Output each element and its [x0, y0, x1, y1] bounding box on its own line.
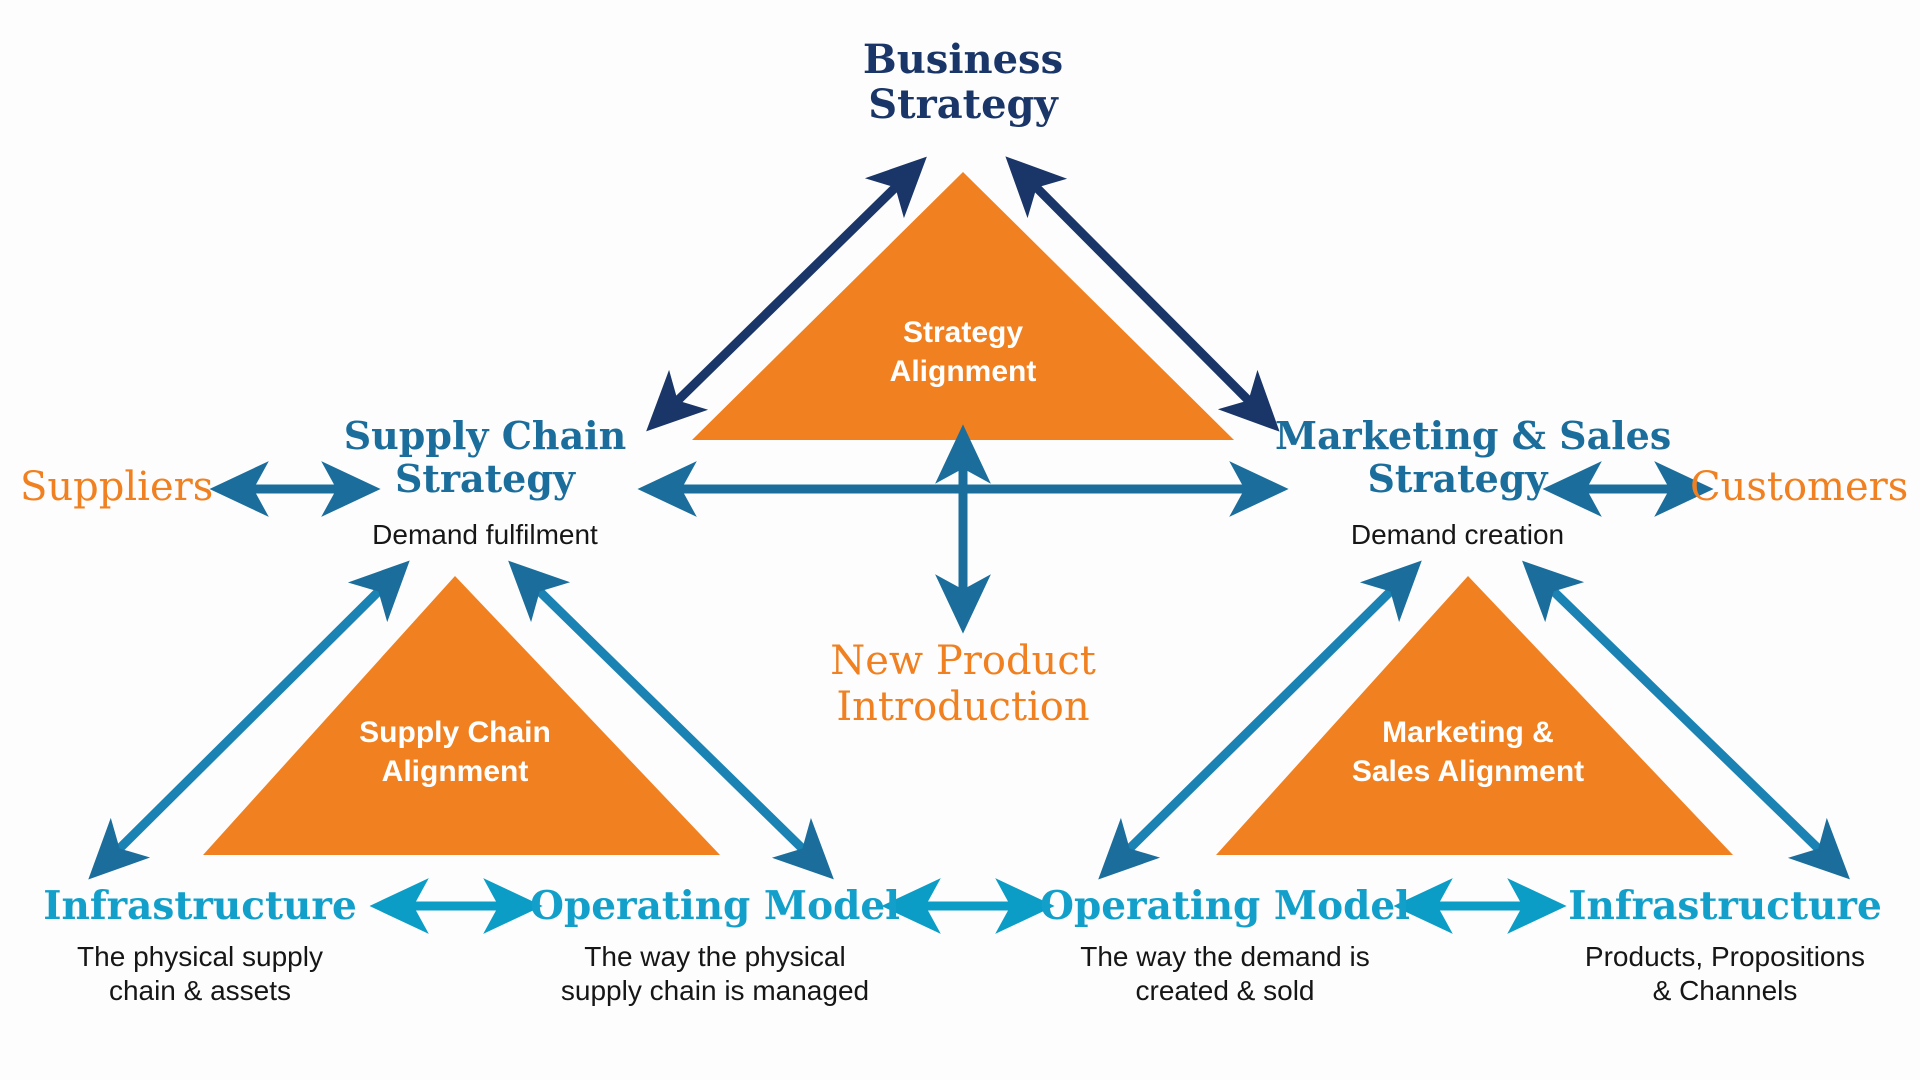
marketing-sales-strategy-line2: Strategy — [1275, 458, 1640, 501]
strategy-alignment-label: Strategy Alignment — [813, 313, 1113, 391]
supply-chain-strategy-title: Supply Chain Strategy — [310, 415, 660, 500]
supply-chain-alignment-line1: Supply Chain — [305, 713, 605, 752]
bottom-infra-supply-sub-line1: The physical supply — [20, 940, 380, 974]
bottom-infra-demand-sub-line2: & Channels — [1540, 974, 1910, 1008]
customers-text: Customers — [1690, 464, 1908, 510]
npi-line2: Introduction — [763, 684, 1163, 730]
bottom-operating-model-demand-text: Operating Model — [1040, 883, 1410, 929]
new-product-introduction-label: New Product Introduction — [763, 638, 1163, 730]
suppliers-text: Suppliers — [20, 464, 213, 510]
supply-chain-strategy-line1: Supply Chain — [310, 415, 660, 458]
bottom-om-demand-sub-line1: The way the demand is — [1035, 940, 1415, 974]
marketing-sales-strategy-line1: Marketing & Sales — [1275, 415, 1640, 458]
bottom-operating-model-supply-subtitle: The way the physical supply chain is man… — [520, 940, 910, 1007]
business-strategy-title: Business Strategy — [763, 38, 1163, 128]
marketing-sales-strategy-title: Marketing & Sales Strategy — [1275, 415, 1640, 500]
npi-line1: New Product — [763, 638, 1163, 684]
bottom-operating-model-demand-title: Operating Model — [1040, 885, 1410, 929]
supply-chain-strategy-line2: Strategy — [310, 458, 660, 501]
bottom-operating-model-supply-text: Operating Model — [530, 883, 900, 929]
strategy-alignment-line1: Strategy — [813, 313, 1113, 352]
customers-label: Customers — [1690, 464, 1920, 510]
bottom-infrastructure-supply-subtitle: The physical supply chain & assets — [20, 940, 380, 1007]
business-strategy-line1: Business — [763, 38, 1163, 83]
bottom-infrastructure-demand-subtitle: Products, Propositions & Channels — [1540, 940, 1910, 1007]
marketing-sales-strategy-sub-text: Demand creation — [1351, 519, 1564, 550]
bottom-infra-demand-sub-line1: Products, Propositions — [1540, 940, 1910, 974]
bottom-infrastructure-demand-text: Infrastructure — [1568, 883, 1882, 929]
bottom-infra-supply-sub-line2: chain & assets — [20, 974, 380, 1008]
supply-chain-strategy-subtitle: Demand fulfilment — [310, 518, 660, 552]
bottom-operating-model-supply-title: Operating Model — [530, 885, 900, 929]
strategy-alignment-line2: Alignment — [813, 352, 1113, 391]
bottom-om-demand-sub-line2: created & sold — [1035, 974, 1415, 1008]
supply-chain-alignment-label: Supply Chain Alignment — [305, 713, 605, 791]
supply-chain-strategy-sub-text: Demand fulfilment — [372, 519, 598, 550]
suppliers-label: Suppliers — [0, 464, 225, 510]
bottom-om-supply-sub-line2: supply chain is managed — [520, 974, 910, 1008]
marketing-sales-alignment-line2: Sales Alignment — [1318, 752, 1618, 791]
bottom-om-supply-sub-line1: The way the physical — [520, 940, 910, 974]
marketing-sales-strategy-subtitle: Demand creation — [1275, 518, 1640, 552]
bottom-infrastructure-supply-text: Infrastructure — [43, 883, 357, 929]
marketing-sales-alignment-line1: Marketing & — [1318, 713, 1618, 752]
bottom-operating-model-demand-subtitle: The way the demand is created & sold — [1035, 940, 1415, 1007]
bottom-infrastructure-demand-title: Infrastructure — [1545, 885, 1905, 929]
supply-chain-alignment-line2: Alignment — [305, 752, 605, 791]
business-strategy-line2: Strategy — [763, 83, 1163, 128]
diagram-canvas: Business Strategy Strategy Alignment Sup… — [0, 0, 1920, 1080]
bottom-infrastructure-supply-title: Infrastructure — [20, 885, 380, 929]
marketing-sales-alignment-label: Marketing & Sales Alignment — [1318, 713, 1618, 791]
